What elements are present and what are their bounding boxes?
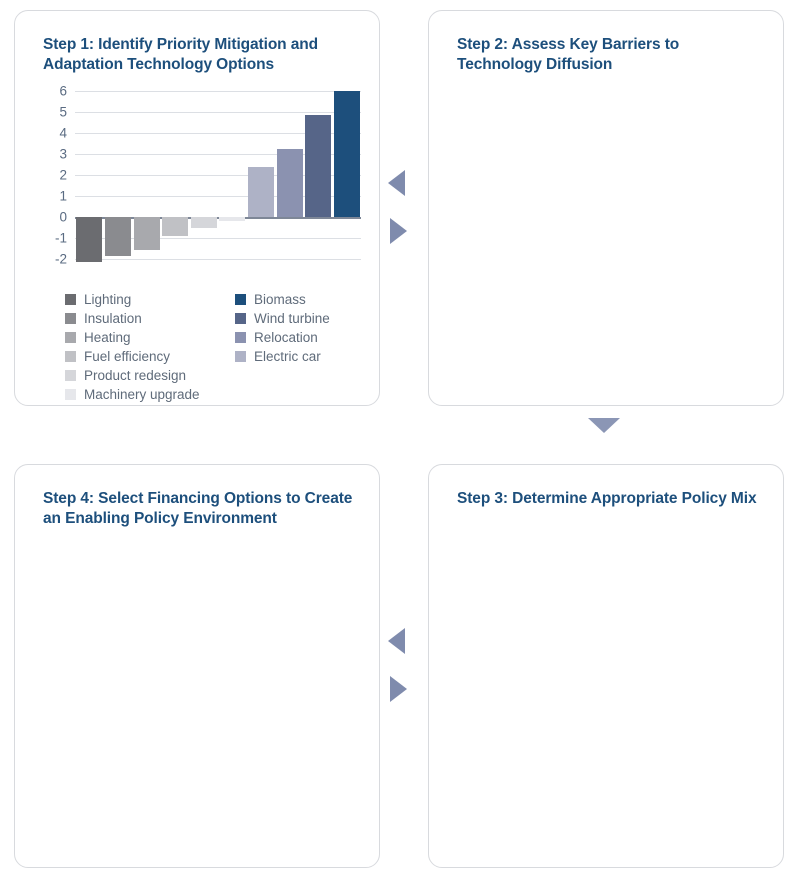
legend-item: Electric car	[235, 348, 330, 365]
legend-label: Relocation	[254, 330, 318, 345]
step-2-title: Step 2: Assess Key Barriers to Technolog…	[457, 35, 761, 76]
y-axis-tick: -2	[55, 252, 67, 267]
chart-bar	[76, 217, 102, 262]
step-1-title: Step 1: Identify Priority Mitigation and…	[43, 35, 357, 76]
connector-arrow-left-icon	[388, 170, 405, 196]
legend-item: Lighting	[65, 291, 235, 308]
chart-bar	[334, 91, 360, 217]
legend-swatch	[65, 351, 76, 362]
chart-legend: LightingInsulationHeatingFuel efficiency…	[65, 291, 375, 403]
chart-bar	[305, 115, 331, 217]
chart-bar	[277, 149, 303, 217]
legend-item: Relocation	[235, 329, 330, 346]
y-axis-tick: -1	[55, 231, 67, 246]
legend-column-right: BiomassWind turbineRelocationElectric ca…	[235, 291, 330, 403]
legend-label: Biomass	[254, 292, 306, 307]
connector-arrow-right-icon	[390, 676, 407, 702]
panel-step-3: Step 3: Determine Appropriate Policy Mix…	[428, 464, 784, 868]
legend-label: Product redesign	[84, 368, 186, 383]
chart-plot-area	[75, 91, 361, 259]
legend-item: Heating	[65, 329, 235, 346]
connector-arrow-down-icon	[588, 418, 620, 433]
y-axis-tick: 3	[59, 147, 67, 162]
legend-label: Electric car	[254, 349, 321, 364]
legend-item: Machinery upgrade	[65, 386, 235, 403]
mac-curve-chart: 6543210-1-2	[45, 91, 361, 276]
chart-bar	[248, 167, 274, 217]
chart-bar	[105, 217, 131, 256]
process-diagram-board: Step 1: Identify Priority Mitigation and…	[0, 0, 792, 876]
chart-bar	[219, 217, 245, 221]
y-axis-tick: 2	[59, 168, 67, 183]
legend-label: Machinery upgrade	[84, 387, 200, 402]
chart-bars	[75, 91, 361, 259]
step-4-title: Step 4: Select Financing Options to Crea…	[43, 489, 357, 530]
connector-arrow-right-icon	[390, 218, 407, 244]
legend-swatch	[235, 294, 246, 305]
connector-arrow-left-icon	[388, 628, 405, 654]
legend-item: Fuel efficiency	[65, 348, 235, 365]
legend-swatch	[235, 332, 246, 343]
legend-label: Insulation	[84, 311, 142, 326]
legend-label: Heating	[84, 330, 131, 345]
legend-item: Wind turbine	[235, 310, 330, 327]
panel-step-4: Step 4: Select Financing Options to Crea…	[14, 464, 380, 868]
legend-swatch	[65, 332, 76, 343]
legend-column-left: LightingInsulationHeatingFuel efficiency…	[65, 291, 235, 403]
chart-gridline	[75, 259, 361, 260]
step-3-title: Step 3: Determine Appropriate Policy Mix	[457, 489, 761, 509]
chart-bar	[162, 217, 188, 236]
y-axis-tick: 5	[59, 105, 67, 120]
legend-item: Biomass	[235, 291, 330, 308]
chart-y-axis: 6543210-1-2	[45, 91, 71, 259]
legend-swatch	[235, 313, 246, 324]
legend-item: Product redesign	[65, 367, 235, 384]
legend-item: Insulation	[65, 310, 235, 327]
chart-bar	[191, 217, 217, 228]
legend-label: Wind turbine	[254, 311, 330, 326]
y-axis-tick: 0	[59, 210, 67, 225]
panel-step-1: Step 1: Identify Priority Mitigation and…	[14, 10, 380, 406]
legend-label: Fuel efficiency	[84, 349, 170, 364]
chart-bar	[134, 217, 160, 250]
y-axis-tick: 6	[59, 84, 67, 99]
legend-swatch	[65, 370, 76, 381]
y-axis-tick: 1	[59, 189, 67, 204]
y-axis-tick: 4	[59, 126, 67, 141]
legend-swatch	[65, 294, 76, 305]
panel-step-2: Step 2: Assess Key Barriers to Technolog…	[428, 10, 784, 406]
legend-swatch	[65, 389, 76, 400]
legend-swatch	[65, 313, 76, 324]
legend-label: Lighting	[84, 292, 131, 307]
legend-swatch	[235, 351, 246, 362]
